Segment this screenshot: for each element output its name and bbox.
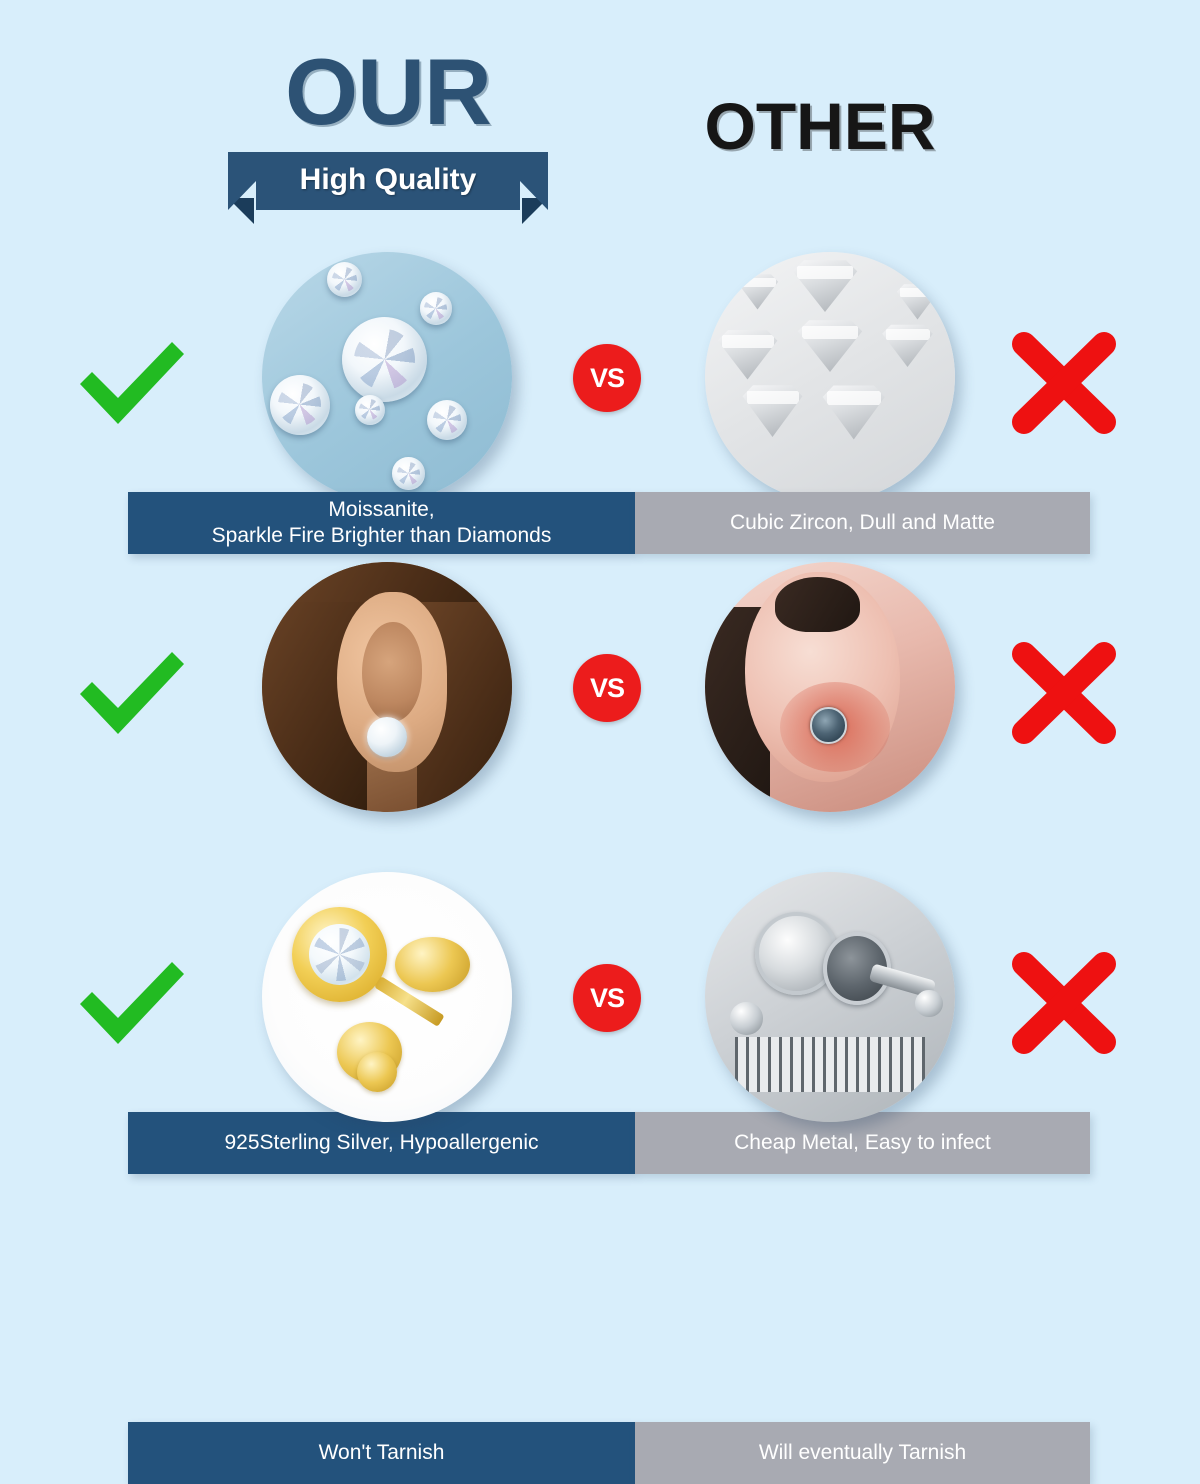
other-caption-zircon: Cubic Zircon, Dull and Matte xyxy=(635,492,1090,554)
other-image-tarnished-metal xyxy=(705,872,955,1122)
check-icon xyxy=(72,638,190,748)
healthy-ear-scene xyxy=(262,562,512,812)
stud-earring xyxy=(367,717,407,757)
cubic-zircon-scene xyxy=(705,252,955,502)
our-title: OUR xyxy=(228,44,548,144)
center-stone xyxy=(309,924,370,985)
vs-badge-sparkle: VS xyxy=(573,344,641,412)
comparison-row-material: VS 925Sterling Silver, Hypoallergenic Ch… xyxy=(0,550,1200,860)
ear-canal-shadow xyxy=(775,577,860,632)
gem-medium-left xyxy=(270,375,330,435)
our-caption-sparkle: Moissanite, Sparkle Fire Brighter than D… xyxy=(128,492,635,554)
comparison-header: OUR High Quality OTHER xyxy=(0,0,1200,240)
metal-ball-right xyxy=(915,990,943,1018)
zircon-stone-6 xyxy=(740,382,805,437)
our-header-block: OUR High Quality xyxy=(228,44,548,224)
zircon-stone-7 xyxy=(820,382,888,440)
cross-icon xyxy=(1008,948,1120,1058)
comparison-row-sparkle: VS Moissanite, Sparkle Fire Brighter tha… xyxy=(0,240,1200,550)
our-caption-wont-tarnish: Won't Tarnish xyxy=(128,1422,635,1484)
our-image-healthy-ear xyxy=(262,562,512,812)
vs-badge-material: VS xyxy=(573,654,641,722)
other-title: OTHER xyxy=(660,88,980,164)
zircon-stone-8 xyxy=(895,282,940,320)
gem-small-top xyxy=(327,262,362,297)
our-image-gold-studs xyxy=(262,872,512,1122)
our-image-sparkle xyxy=(262,252,512,502)
metal-ball-left xyxy=(730,1002,763,1035)
gold-stud-scene xyxy=(262,872,512,1122)
metal-grid-pattern xyxy=(735,1037,925,1092)
zircon-stone-3 xyxy=(795,317,865,372)
comparison-row-tarnish: VS Won't Tarnish Will eventually Tarnish xyxy=(0,860,1200,1170)
cheap-stud-earring xyxy=(810,707,847,744)
other-image-infected-ear xyxy=(705,562,955,812)
earring-back-loop xyxy=(357,1052,397,1092)
second-stud-head xyxy=(395,937,470,992)
caption-row-sparkle: Moissanite, Sparkle Fire Brighter than D… xyxy=(128,492,1090,554)
high-quality-ribbon: High Quality xyxy=(228,152,548,226)
zircon-stone-4 xyxy=(715,327,780,380)
other-caption-will-tarnish: Will eventually Tarnish xyxy=(635,1422,1090,1484)
gem-small-bottom xyxy=(392,457,425,490)
ear-inner xyxy=(362,622,422,722)
ribbon-label: High Quality xyxy=(228,152,548,210)
infected-ear-scene xyxy=(705,562,955,812)
zircon-stone-2 xyxy=(735,272,780,310)
moissanite-scene xyxy=(262,252,512,502)
gold-halo-stud xyxy=(292,907,387,1002)
check-icon xyxy=(72,948,190,1058)
gem-small-right xyxy=(427,400,467,440)
cross-icon xyxy=(1008,638,1120,748)
zircon-stone-1 xyxy=(790,257,860,312)
check-icon xyxy=(72,328,190,438)
gem-small-upper-right xyxy=(420,292,453,325)
cross-icon xyxy=(1008,328,1120,438)
caption-row-tarnish: Won't Tarnish Will eventually Tarnish xyxy=(128,1422,1090,1484)
gem-small-center xyxy=(355,395,385,425)
zircon-stone-5 xyxy=(880,322,935,367)
other-image-zircon xyxy=(705,252,955,502)
vs-badge-tarnish: VS xyxy=(573,964,641,1032)
tarnished-metal-scene xyxy=(705,872,955,1122)
gem-large xyxy=(342,317,427,402)
